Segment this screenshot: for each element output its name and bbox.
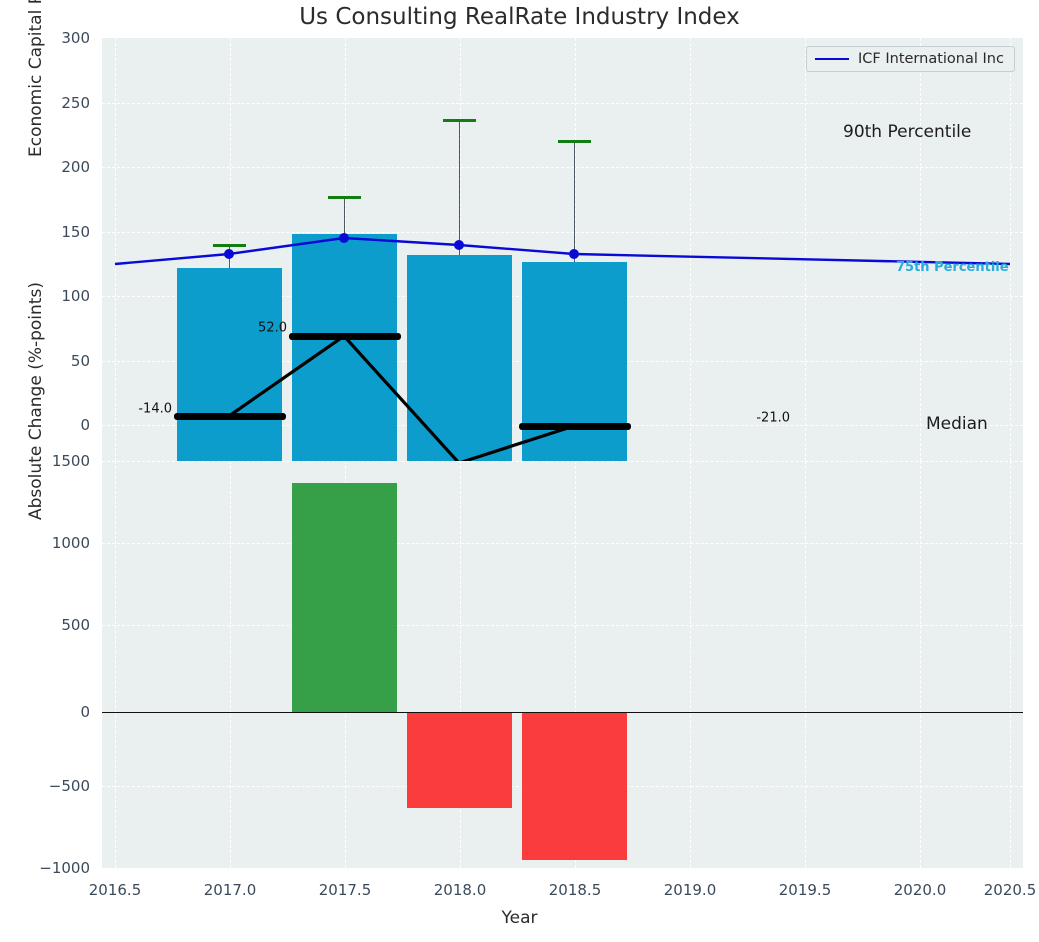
data-point-2017 (224, 249, 234, 259)
cap-p90-2018 (328, 196, 361, 199)
annotation-90th-percentile: 90th Percentile (843, 122, 971, 142)
y-tick-bot-n500: −500 (30, 777, 90, 795)
y-axis-label-bottom: Absolute Change (%-points) (26, 282, 46, 520)
gridline-v (920, 38, 921, 461)
gridline-h (102, 167, 1023, 168)
y-tick-top-0: 0 (38, 416, 90, 434)
median-marker-2017 (174, 413, 286, 420)
gridline-v (920, 461, 921, 868)
x-tick-2017-0: 2017.0 (204, 881, 257, 899)
annotation-75th-percentile: 75th Percentile (896, 260, 1009, 275)
y-tick-top-100: 100 (38, 287, 90, 305)
icf-international-line (115, 238, 1010, 264)
y-tick-top-300: 300 (38, 29, 90, 47)
gridline-v (115, 461, 116, 868)
gridline-h (102, 461, 1023, 462)
legend-label-icf: ICF International Inc (858, 51, 1004, 67)
y-tick-bot-1500: 1500 (38, 452, 90, 470)
median-value-label-2020: -21.0 (756, 411, 790, 426)
cap-p90-2019 (443, 119, 476, 122)
legend[interactable]: ICF International Inc (806, 46, 1015, 72)
bar-change-2019 (407, 713, 512, 808)
x-tick-2017-5: 2017.5 (319, 881, 372, 899)
legend-color-swatch-icf (815, 58, 849, 60)
median-marker-2020 (519, 423, 631, 430)
gridline-v (805, 461, 806, 868)
x-tick-2020-5: 2020.5 (984, 881, 1037, 899)
x-tick-2019-0: 2019.0 (664, 881, 717, 899)
x-tick-2018-0: 2018.0 (434, 881, 487, 899)
median-value-label-2018: 52.0 (258, 321, 287, 336)
cap-p90-2020 (558, 140, 591, 143)
bar-p75-2020 (522, 262, 627, 461)
y-axis-label-top: Economic Capital Ratio (26, 0, 46, 157)
median-marker-2018 (289, 333, 401, 340)
gridline-v (230, 461, 231, 868)
chart-figure: Us Consulting RealRate Industry Index Ec… (0, 0, 1039, 942)
gridline-v (1010, 461, 1011, 868)
median-value-label-2017: -14.0 (138, 402, 172, 417)
y-tick-top-250: 250 (38, 94, 90, 112)
y-tick-bot-0: 0 (38, 703, 90, 721)
gridline-v (115, 38, 116, 461)
y-tick-bot-500: 500 (38, 616, 90, 634)
bar-change-2018 (292, 483, 397, 712)
gridline-h (102, 625, 1023, 626)
bar-p75-2017 (177, 268, 282, 461)
y-tick-top-50: 50 (38, 352, 90, 370)
bar-change-2020 (522, 713, 627, 860)
x-tick-2016-5: 2016.5 (89, 881, 142, 899)
gridline-v (1010, 38, 1011, 461)
y-tick-top-150: 150 (38, 223, 90, 241)
data-point-2019 (454, 240, 464, 250)
gridline-h (102, 543, 1023, 544)
data-point-2020 (569, 249, 579, 259)
x-tick-2019-5: 2019.5 (779, 881, 832, 899)
lower-plot-area (102, 461, 1023, 868)
gridline-h (102, 103, 1023, 104)
gridline-v (805, 38, 806, 461)
annotation-median: Median (926, 414, 988, 434)
chart-title: Us Consulting RealRate Industry Index (0, 4, 1039, 30)
y-tick-bot-1000: 1000 (38, 534, 90, 552)
gridline-v (690, 461, 691, 868)
y-tick-top-200: 200 (38, 158, 90, 176)
y-tick-bot-n1000: −1000 (24, 859, 90, 877)
bar-p75-2019 (407, 255, 512, 461)
bar-p75-2018 (292, 234, 397, 461)
gridline-h (102, 232, 1023, 233)
x-tick-2020-0: 2020.0 (894, 881, 947, 899)
cap-p90-2017 (213, 244, 246, 247)
x-tick-2018-5: 2018.5 (549, 881, 602, 899)
gridline-v (690, 38, 691, 461)
data-point-2018 (339, 233, 349, 243)
x-axis-label: Year (0, 908, 1039, 928)
upper-plot-area (102, 38, 1023, 461)
